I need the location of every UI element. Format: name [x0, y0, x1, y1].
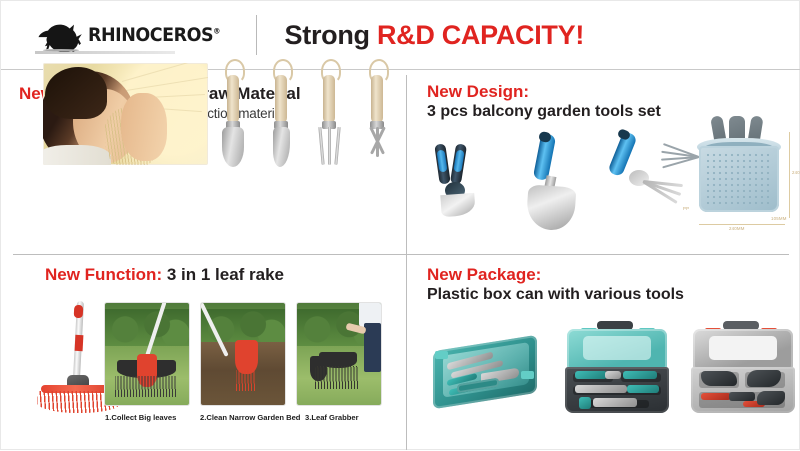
wheat-straw-tools	[216, 57, 396, 169]
registered-mark: ®	[213, 27, 220, 36]
header: RHINOCEROS® Strong R&D CAPACITY!	[1, 1, 800, 69]
open-teal-tool-case	[563, 327, 673, 419]
page-title: Strong R&D CAPACITY!	[285, 20, 584, 51]
tool-cultivator	[360, 57, 394, 169]
photo-shoulder	[43, 145, 111, 165]
function-photo-2	[201, 303, 285, 405]
new-design-heading-red: New Design:	[427, 82, 800, 101]
header-divider	[256, 15, 257, 55]
page-title-plain: Strong	[285, 20, 377, 50]
logo-underline	[35, 51, 175, 54]
dim-material-label: PP	[683, 206, 689, 211]
open-gray-tool-case	[689, 327, 793, 419]
new-function-heading-black: 3 in 1 leaf rake	[162, 265, 284, 284]
wheat-photo	[43, 63, 208, 165]
pruning-shears-icon	[429, 144, 479, 218]
trowel-icon	[517, 134, 581, 232]
tool-trowel-narrow	[264, 57, 298, 169]
rhino-icon	[35, 18, 87, 52]
photo-hand	[121, 93, 167, 161]
function-caption-2: 2.Clean Narrow Garden Bed	[200, 413, 300, 422]
function-captions: 1.Collect Big leaves 2.Clean Narrow Gard…	[1, 413, 406, 429]
new-function-heading-red: New Function:	[45, 265, 162, 284]
basket-side-fork	[661, 156, 701, 186]
function-photo-1	[105, 303, 189, 405]
tool-fork	[312, 57, 346, 169]
slide-root: RHINOCEROS® Strong R&D CAPACITY! New mat…	[0, 0, 800, 450]
page-title-accent: R&D CAPACITY!	[377, 20, 584, 50]
photo-hair	[45, 67, 107, 119]
new-package-heading-red: New Package:	[427, 265, 800, 284]
new-function-heading: New Function: 3 in 1 leaf rake	[45, 265, 406, 284]
tool-trowel-wide	[216, 57, 250, 169]
function-caption-3: 3.Leaf Grabber	[305, 413, 359, 422]
design-product-stage: 240MM 240MM 105MM PP	[407, 126, 800, 254]
brand-wordmark-text: RHINOCEROS	[88, 24, 213, 46]
dim-line-width	[699, 224, 785, 225]
new-package-heading-black: Plastic box can with various tools	[427, 286, 800, 304]
dim-width-label: 240MM	[729, 226, 745, 231]
dim-depth-label: 105MM	[771, 216, 787, 221]
function-caption-1: 1.Collect Big leaves	[105, 413, 176, 422]
function-photo-3	[297, 303, 381, 405]
closed-teal-tool-case	[427, 327, 545, 411]
brand-wordmark: RHINOCEROS®	[88, 24, 220, 46]
dim-height-label: 240MM	[792, 170, 800, 175]
storage-basket-icon	[695, 128, 787, 220]
dim-line-height	[789, 132, 790, 218]
brand-logo: RHINOCEROS®	[35, 18, 232, 52]
